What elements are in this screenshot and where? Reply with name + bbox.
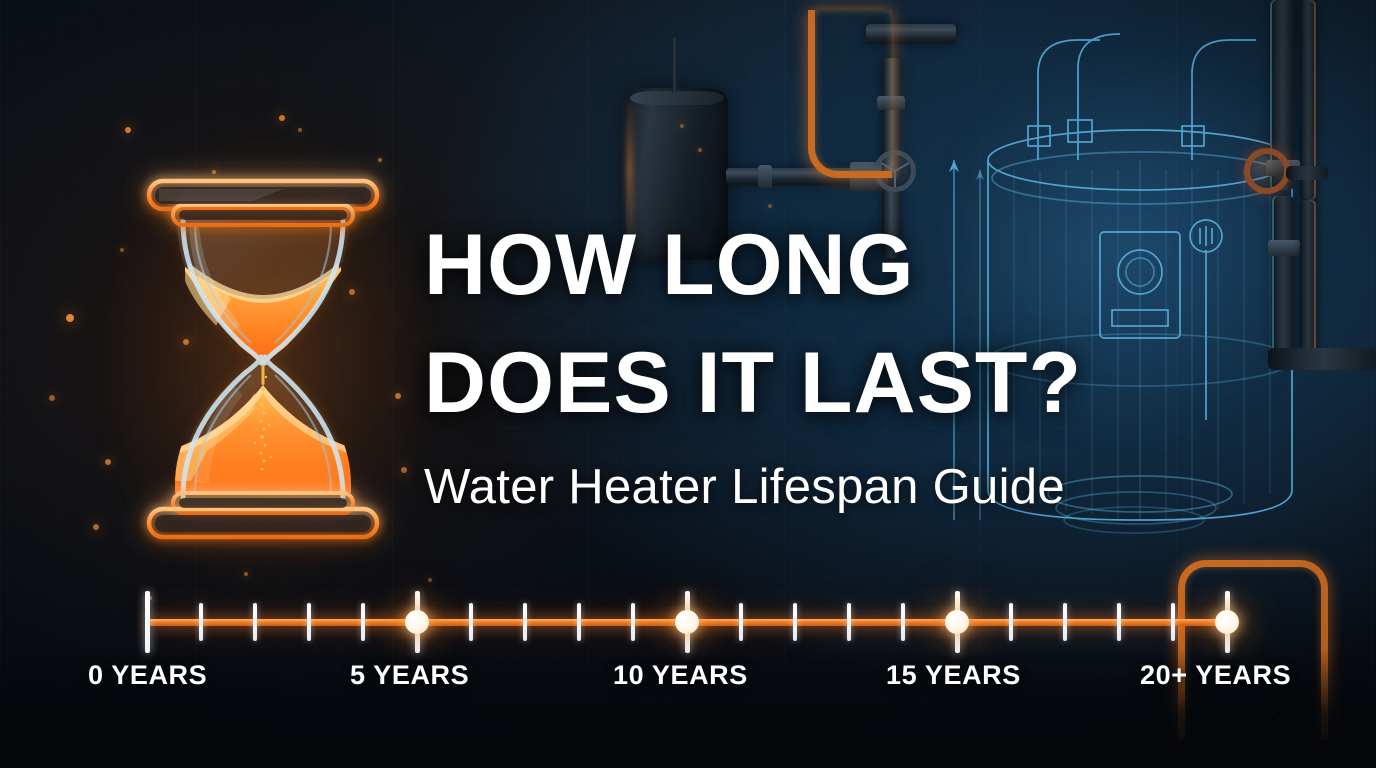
infographic-canvas: How Long Does It Last? Water Heater Life… [0,0,1376,768]
headline-line-2: Does It Last? [424,340,1304,426]
headline-line-1: How Long [424,217,915,313]
page-subtitle: Water Heater Lifespan Guide [424,459,1304,515]
page-title: How Long Does It Last? [424,222,1304,426]
